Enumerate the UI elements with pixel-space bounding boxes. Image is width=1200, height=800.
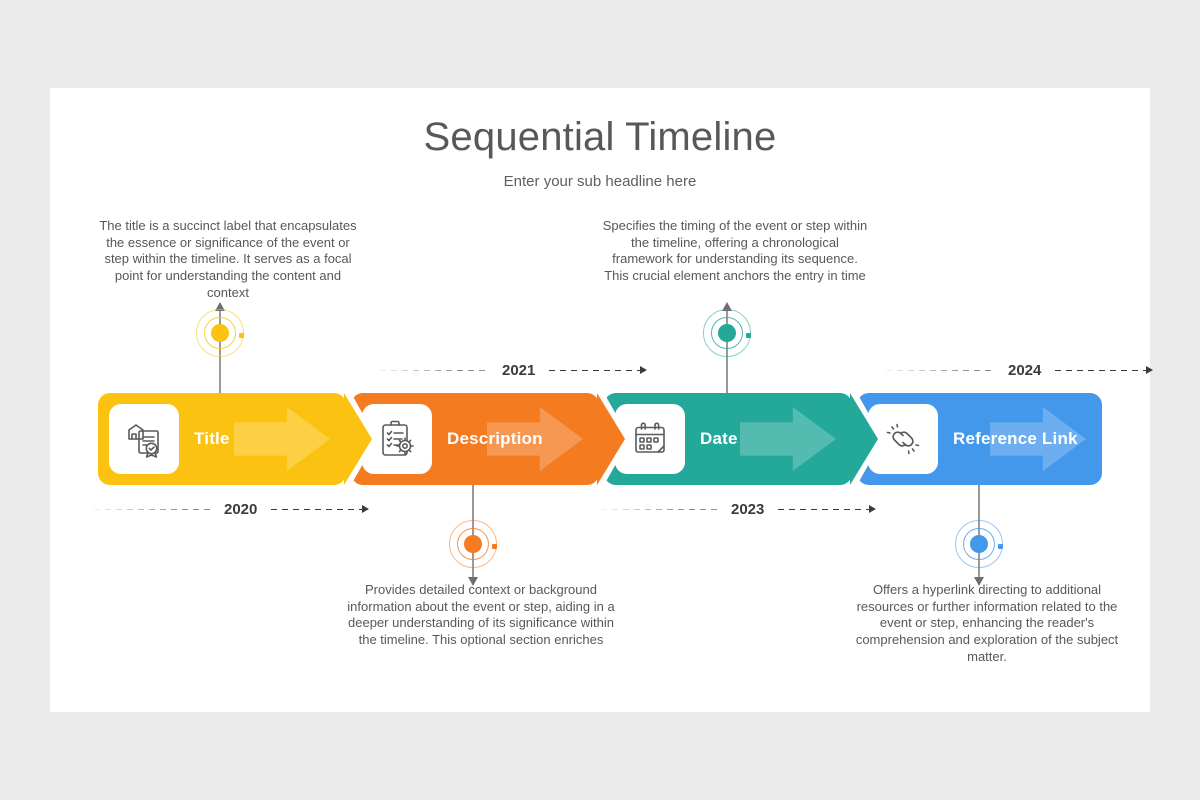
marker-satellite — [492, 544, 497, 549]
marker-core — [211, 324, 229, 342]
year-dash-left — [94, 509, 210, 510]
year-dash-right — [549, 370, 641, 371]
marker-satellite — [239, 333, 244, 338]
step-label-title: Title — [194, 393, 230, 485]
step-description-0: The title is a succinct label that encap… — [94, 218, 362, 301]
step-description-1: Provides detailed context or background … — [347, 582, 615, 649]
year-arrow-icon — [362, 505, 369, 513]
timeline-marker-3[interactable] — [951, 516, 1007, 572]
step-label-reference-link: Reference Link — [953, 393, 1078, 485]
year-dash-right — [271, 509, 363, 510]
step-label-date: Date — [700, 393, 738, 485]
certificate-icon — [109, 404, 179, 474]
step-description-2: Specifies the timing of the event or ste… — [601, 218, 869, 285]
link-chain-icon — [868, 404, 938, 474]
year-dash-left — [380, 370, 488, 371]
timeline-step-description[interactable]: Description — [351, 393, 599, 485]
timeline-step-reference-link[interactable]: Reference Link — [857, 393, 1102, 485]
marker-core — [970, 535, 988, 553]
clipboard-gear-icon — [362, 404, 432, 474]
year-dash-right — [778, 509, 870, 510]
year-label-3: 2024 — [994, 362, 1055, 379]
marker-core — [718, 324, 736, 342]
page-subtitle: Enter your sub headline here — [50, 173, 1150, 190]
year-arrow-icon — [640, 366, 647, 374]
year-dash-left — [601, 509, 717, 510]
page-title: Sequential Timeline — [50, 115, 1150, 160]
year-row-1: 2021 — [380, 359, 641, 381]
connector-arrow-down-icon — [974, 577, 984, 586]
year-dash-right — [1055, 370, 1147, 371]
year-arrow-icon — [1146, 366, 1153, 374]
year-row-0: 2020 — [94, 498, 363, 520]
year-label-2: 2023 — [717, 501, 778, 518]
marker-satellite — [746, 333, 751, 338]
timeline-marker-2[interactable] — [699, 305, 755, 361]
marker-core — [464, 535, 482, 553]
connector-arrow-down-icon — [468, 577, 478, 586]
step-description-3: Offers a hyperlink directing to addition… — [853, 582, 1121, 665]
year-row-3: 2024 — [886, 359, 1147, 381]
slide-canvas: Sequential Timeline Enter your sub headl… — [50, 88, 1150, 712]
year-row-2: 2023 — [601, 498, 870, 520]
year-arrow-icon — [869, 505, 876, 513]
timeline-bar: Title Description — [98, 393, 1102, 485]
step-label-description: Description — [447, 393, 543, 485]
timeline-step-date[interactable]: Date — [604, 393, 852, 485]
timeline-step-title[interactable]: Title — [98, 393, 346, 485]
timeline-marker-1[interactable] — [445, 516, 501, 572]
year-label-0: 2020 — [210, 501, 271, 518]
calendar-icon — [615, 404, 685, 474]
year-label-1: 2021 — [488, 362, 549, 379]
marker-satellite — [998, 544, 1003, 549]
timeline-marker-0[interactable] — [192, 305, 248, 361]
year-dash-left — [886, 370, 994, 371]
